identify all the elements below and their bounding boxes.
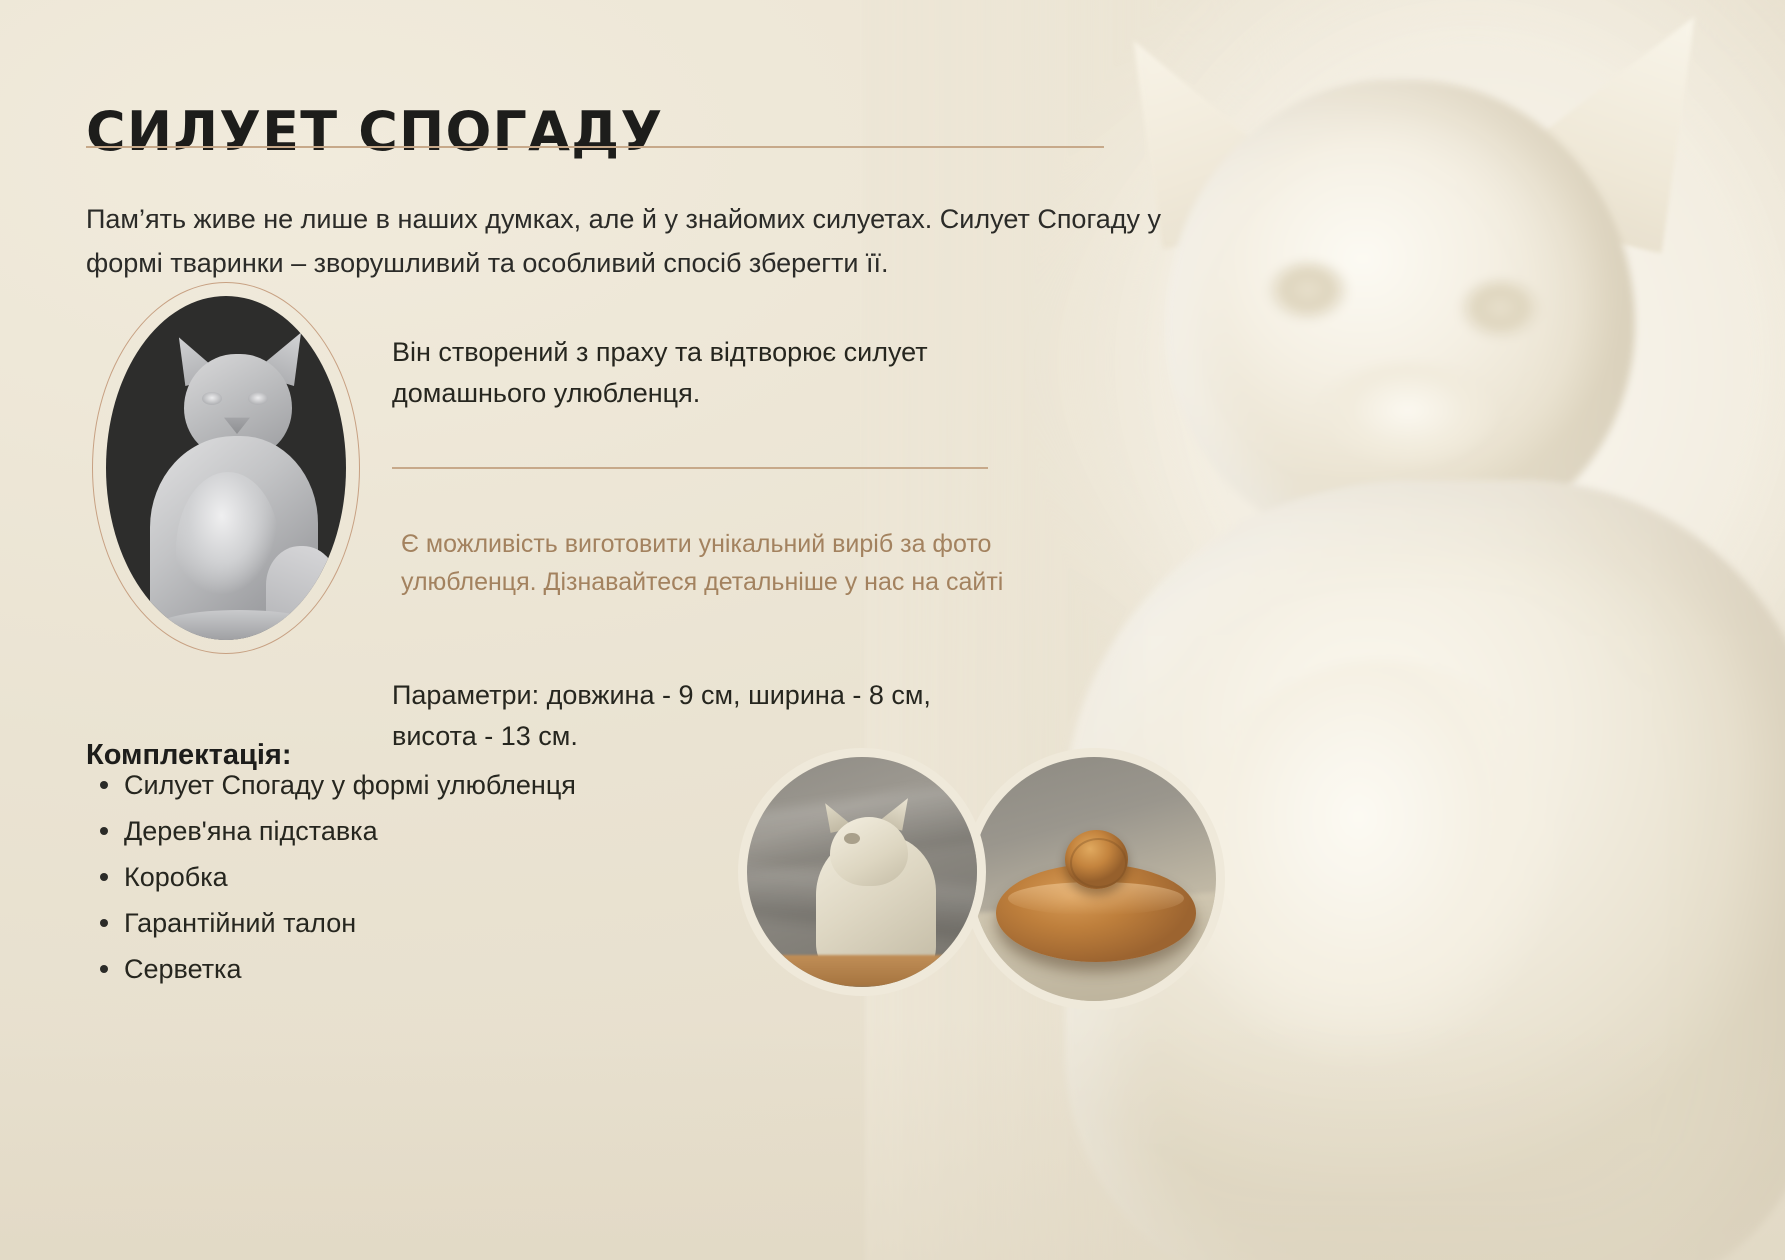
slide-content: СИЛУЕТ СПОГАДУ Пам’ять живе не лише в на… bbox=[0, 0, 1785, 1260]
list-item: Коробка bbox=[86, 854, 576, 900]
oval-figure-frame bbox=[92, 282, 360, 654]
custom-order-note: Є можливість виготовити унікальний виріб… bbox=[401, 525, 1041, 601]
intro-paragraph: Пам’ять живе не лише в наших думках, але… bbox=[86, 197, 1231, 285]
page-title: СИЛУЕТ СПОГАДУ bbox=[86, 100, 663, 163]
cat-figurine-photo bbox=[738, 748, 986, 996]
cat-photo-head bbox=[830, 817, 908, 886]
list-item-label: Дерев'яна підставка bbox=[124, 808, 378, 854]
silhouette-base bbox=[156, 610, 322, 640]
list-item-label: Серветка bbox=[124, 946, 241, 992]
lead-paragraph: Він створений з праху та відтворює силуе… bbox=[392, 332, 1012, 414]
oval-photo bbox=[106, 296, 346, 640]
bullet-icon bbox=[100, 965, 108, 973]
parameters-text: Параметри: довжина - 9 см, ширина - 8 см… bbox=[392, 675, 1012, 757]
bullet-icon bbox=[100, 873, 108, 881]
list-item: Дерев'яна підставка bbox=[86, 808, 576, 854]
bullet-icon bbox=[100, 919, 108, 927]
section-divider bbox=[392, 467, 988, 469]
cat-photo-wooden-plank bbox=[765, 955, 958, 987]
list-item: Серветка bbox=[86, 946, 576, 992]
silhouette-eye-left bbox=[202, 392, 222, 405]
list-item: Силует Спогаду у формі улюбленця bbox=[86, 762, 576, 808]
list-item: Гарантійний талон bbox=[86, 900, 576, 946]
cat-photo-eye bbox=[844, 833, 860, 845]
cat-figurine-silhouette-icon bbox=[106, 296, 346, 640]
bullet-icon bbox=[100, 781, 108, 789]
list-item-label: Силует Спогаду у формі улюбленця bbox=[124, 762, 576, 808]
title-divider bbox=[86, 146, 1104, 148]
bullet-icon bbox=[100, 827, 108, 835]
stand-wood-rings bbox=[1070, 838, 1128, 888]
silhouette-eye-right bbox=[248, 392, 268, 405]
kit-list: Силует Спогаду у формі улюбленця Дерев'я… bbox=[86, 762, 576, 992]
wooden-stand-photo-content bbox=[972, 757, 1216, 1001]
list-item-label: Коробка bbox=[124, 854, 228, 900]
wooden-stand-photo bbox=[963, 748, 1225, 1010]
cat-figurine-photo-content bbox=[747, 757, 977, 987]
list-item-label: Гарантійний талон bbox=[124, 900, 356, 946]
